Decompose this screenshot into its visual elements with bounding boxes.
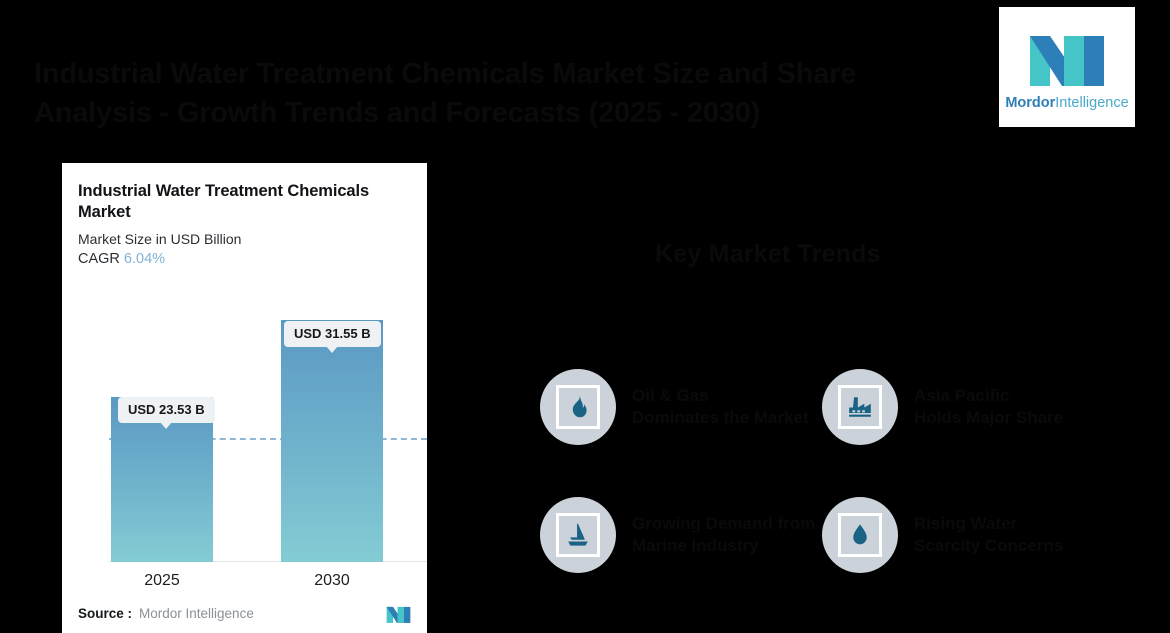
mordor-logo: MordorIntelligence (999, 7, 1135, 127)
panel-heading: Key Market Trends (655, 240, 881, 269)
chart-cagr: CAGR6.04% (78, 251, 411, 267)
flame-icon (565, 394, 591, 420)
icon-frame-3 (556, 513, 600, 557)
logo-word-mordor: Mordor (1005, 95, 1055, 111)
chart-subtitle: Market Size in USD Billion (78, 231, 411, 247)
trend-icon-wrap-3 (540, 497, 616, 573)
cagr-value: 6.04% (124, 251, 165, 267)
x-tick-2025: 2025 (111, 572, 213, 590)
droplet-icon (847, 522, 873, 548)
chart-plot-area: USD 23.53 B USD 31.55 B 2025 2030 (62, 275, 427, 590)
trend-label-3: Growing Demand fromMarine Industry (632, 513, 815, 558)
bar-label-2025: USD 23.53 B (118, 397, 215, 423)
page-title: Industrial Water Treatment Chemicals Mar… (34, 55, 934, 133)
icon-frame-2 (838, 385, 882, 429)
logo-word-intelligence: Intelligence (1055, 95, 1128, 111)
factory-icon (847, 394, 873, 420)
source-label: Source : (78, 606, 132, 621)
icon-frame-4 (838, 513, 882, 557)
icon-frame-1 (556, 385, 600, 429)
cagr-label: CAGR (78, 251, 120, 267)
bar-label-2030: USD 31.55 B (284, 321, 381, 347)
chart-title: Industrial Water Treatment Chemicals Mar… (78, 181, 411, 224)
trend-label-4: Rising WaterScarcity Concerns (914, 513, 1063, 558)
source-logo-icon (386, 603, 411, 623)
source-value: Mordor Intelligence (139, 606, 254, 621)
key-trends-tiles: Oil & GasDominates the Market Asia Pacif… (540, 343, 1130, 599)
bar-2030 (281, 320, 383, 562)
mordor-logo-mark (1028, 24, 1106, 86)
chart-card: Industrial Water Treatment Chemicals Mar… (62, 163, 427, 633)
sailboat-icon (565, 522, 591, 548)
trend-tile-3: Growing Demand fromMarine Industry (540, 471, 822, 599)
tile-row-1: Oil & GasDominates the Market Asia Pacif… (540, 343, 1130, 471)
trend-label-1: Oil & GasDominates the Market (632, 385, 809, 430)
trend-label-2: Asia PacificHolds Major Share (914, 385, 1063, 430)
trend-icon-wrap-4 (822, 497, 898, 573)
trend-tile-1: Oil & GasDominates the Market (540, 343, 822, 471)
mordor-logo-wordmark: MordorIntelligence (1005, 95, 1128, 111)
trend-icon-wrap-2 (822, 369, 898, 445)
chart-source: Source : Mordor Intelligence (78, 603, 411, 623)
trend-tile-2: Asia PacificHolds Major Share (822, 343, 1104, 471)
trend-icon-wrap-1 (540, 369, 616, 445)
tile-row-2: Growing Demand fromMarine Industry Risin… (540, 471, 1130, 599)
x-tick-2030: 2030 (281, 572, 383, 590)
trend-tile-4: Rising WaterScarcity Concerns (822, 471, 1104, 599)
